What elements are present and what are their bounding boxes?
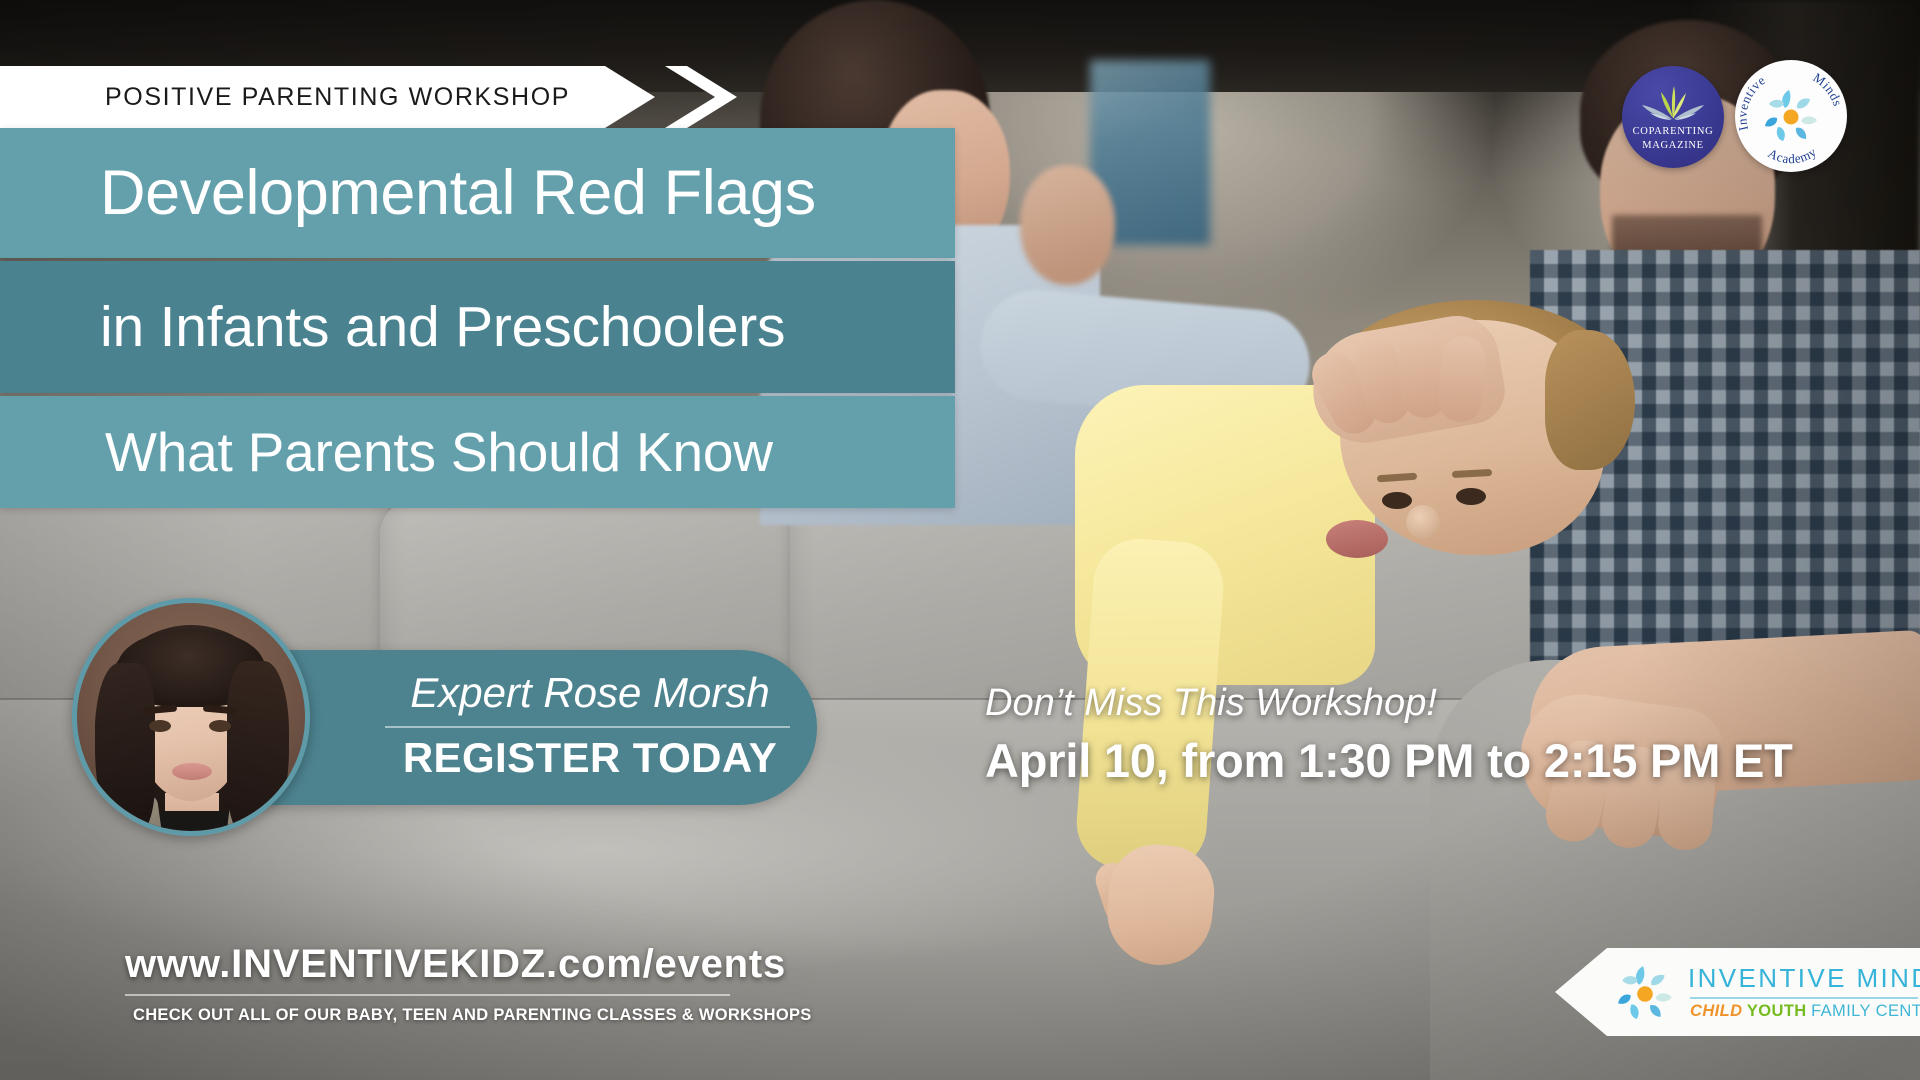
title-band-3: What Parents Should Know	[0, 396, 955, 508]
svg-text:Academy: Academy	[1766, 144, 1820, 166]
event-kicker: Don’t Miss This Workshop!	[985, 682, 1815, 725]
coparenting-magazine-badge: COPARENTING MAGAZINE	[1622, 66, 1724, 168]
plant-sprout-icon	[1622, 66, 1724, 168]
badge-title-line-2: MAGAZINE	[1622, 140, 1724, 151]
avatar-hair-side	[95, 663, 155, 835]
event-schedule: April 10, from 1:30 PM to 2:15 PM ET	[985, 733, 1815, 788]
footer-tagline: CHECK OUT ALL OF OUR BABY, TEEN AND PARE…	[133, 1006, 745, 1025]
avatar-eye	[149, 720, 171, 732]
title-band-2: in Infants and Preschoolers	[0, 261, 955, 393]
website-url[interactable]: www.INVENTIVEKIDZ.com/events	[125, 942, 745, 987]
avatar-hair-side	[227, 661, 289, 836]
pinwheel-flower-icon	[1761, 86, 1821, 146]
speaker-name: Expert Rose Morsh	[380, 669, 800, 717]
kicker-arrow-shape: POSITIVE PARENTING WORKSHOP	[0, 66, 655, 128]
divider	[385, 726, 790, 728]
divider	[125, 994, 730, 996]
kicker-label: POSITIVE PARENTING WORKSHOP	[105, 83, 570, 112]
logo-sub-child: CHILD	[1690, 1002, 1742, 1020]
logo-sub-youth: YOUTH	[1747, 1002, 1807, 1020]
speaker-avatar	[72, 598, 310, 836]
badge-title-line-1: COPARENTING	[1622, 126, 1724, 137]
title-band-1: Developmental Red Flags	[0, 128, 955, 258]
title-line-1: Developmental Red Flags	[100, 157, 816, 229]
logo-subtitle: CHILD YOUTH FAMILY CENTER	[1690, 1002, 1920, 1021]
avatar-eye	[209, 720, 231, 732]
inventive-minds-academy-badge: Inventive Minds Academy	[1735, 60, 1847, 172]
avatar-lips	[172, 763, 212, 780]
pinwheel-flower-icon	[1614, 962, 1676, 1024]
logo-wordmark: INVENTIVE MINDS	[1688, 963, 1920, 994]
logo-sub-family: FAMILY CENTER	[1811, 1002, 1920, 1020]
footer-block: www.INVENTIVEKIDZ.com/events CHECK OUT A…	[125, 942, 745, 1025]
divider	[1690, 997, 1918, 999]
register-today-button[interactable]: REGISTER TODAY	[380, 734, 800, 782]
badge-arc-bottom: Academy	[1766, 144, 1820, 166]
title-line-2: in Infants and Preschoolers	[100, 294, 785, 360]
title-line-3: What Parents Should Know	[105, 420, 773, 484]
event-date-block: Don’t Miss This Workshop! April 10, from…	[985, 682, 1815, 788]
